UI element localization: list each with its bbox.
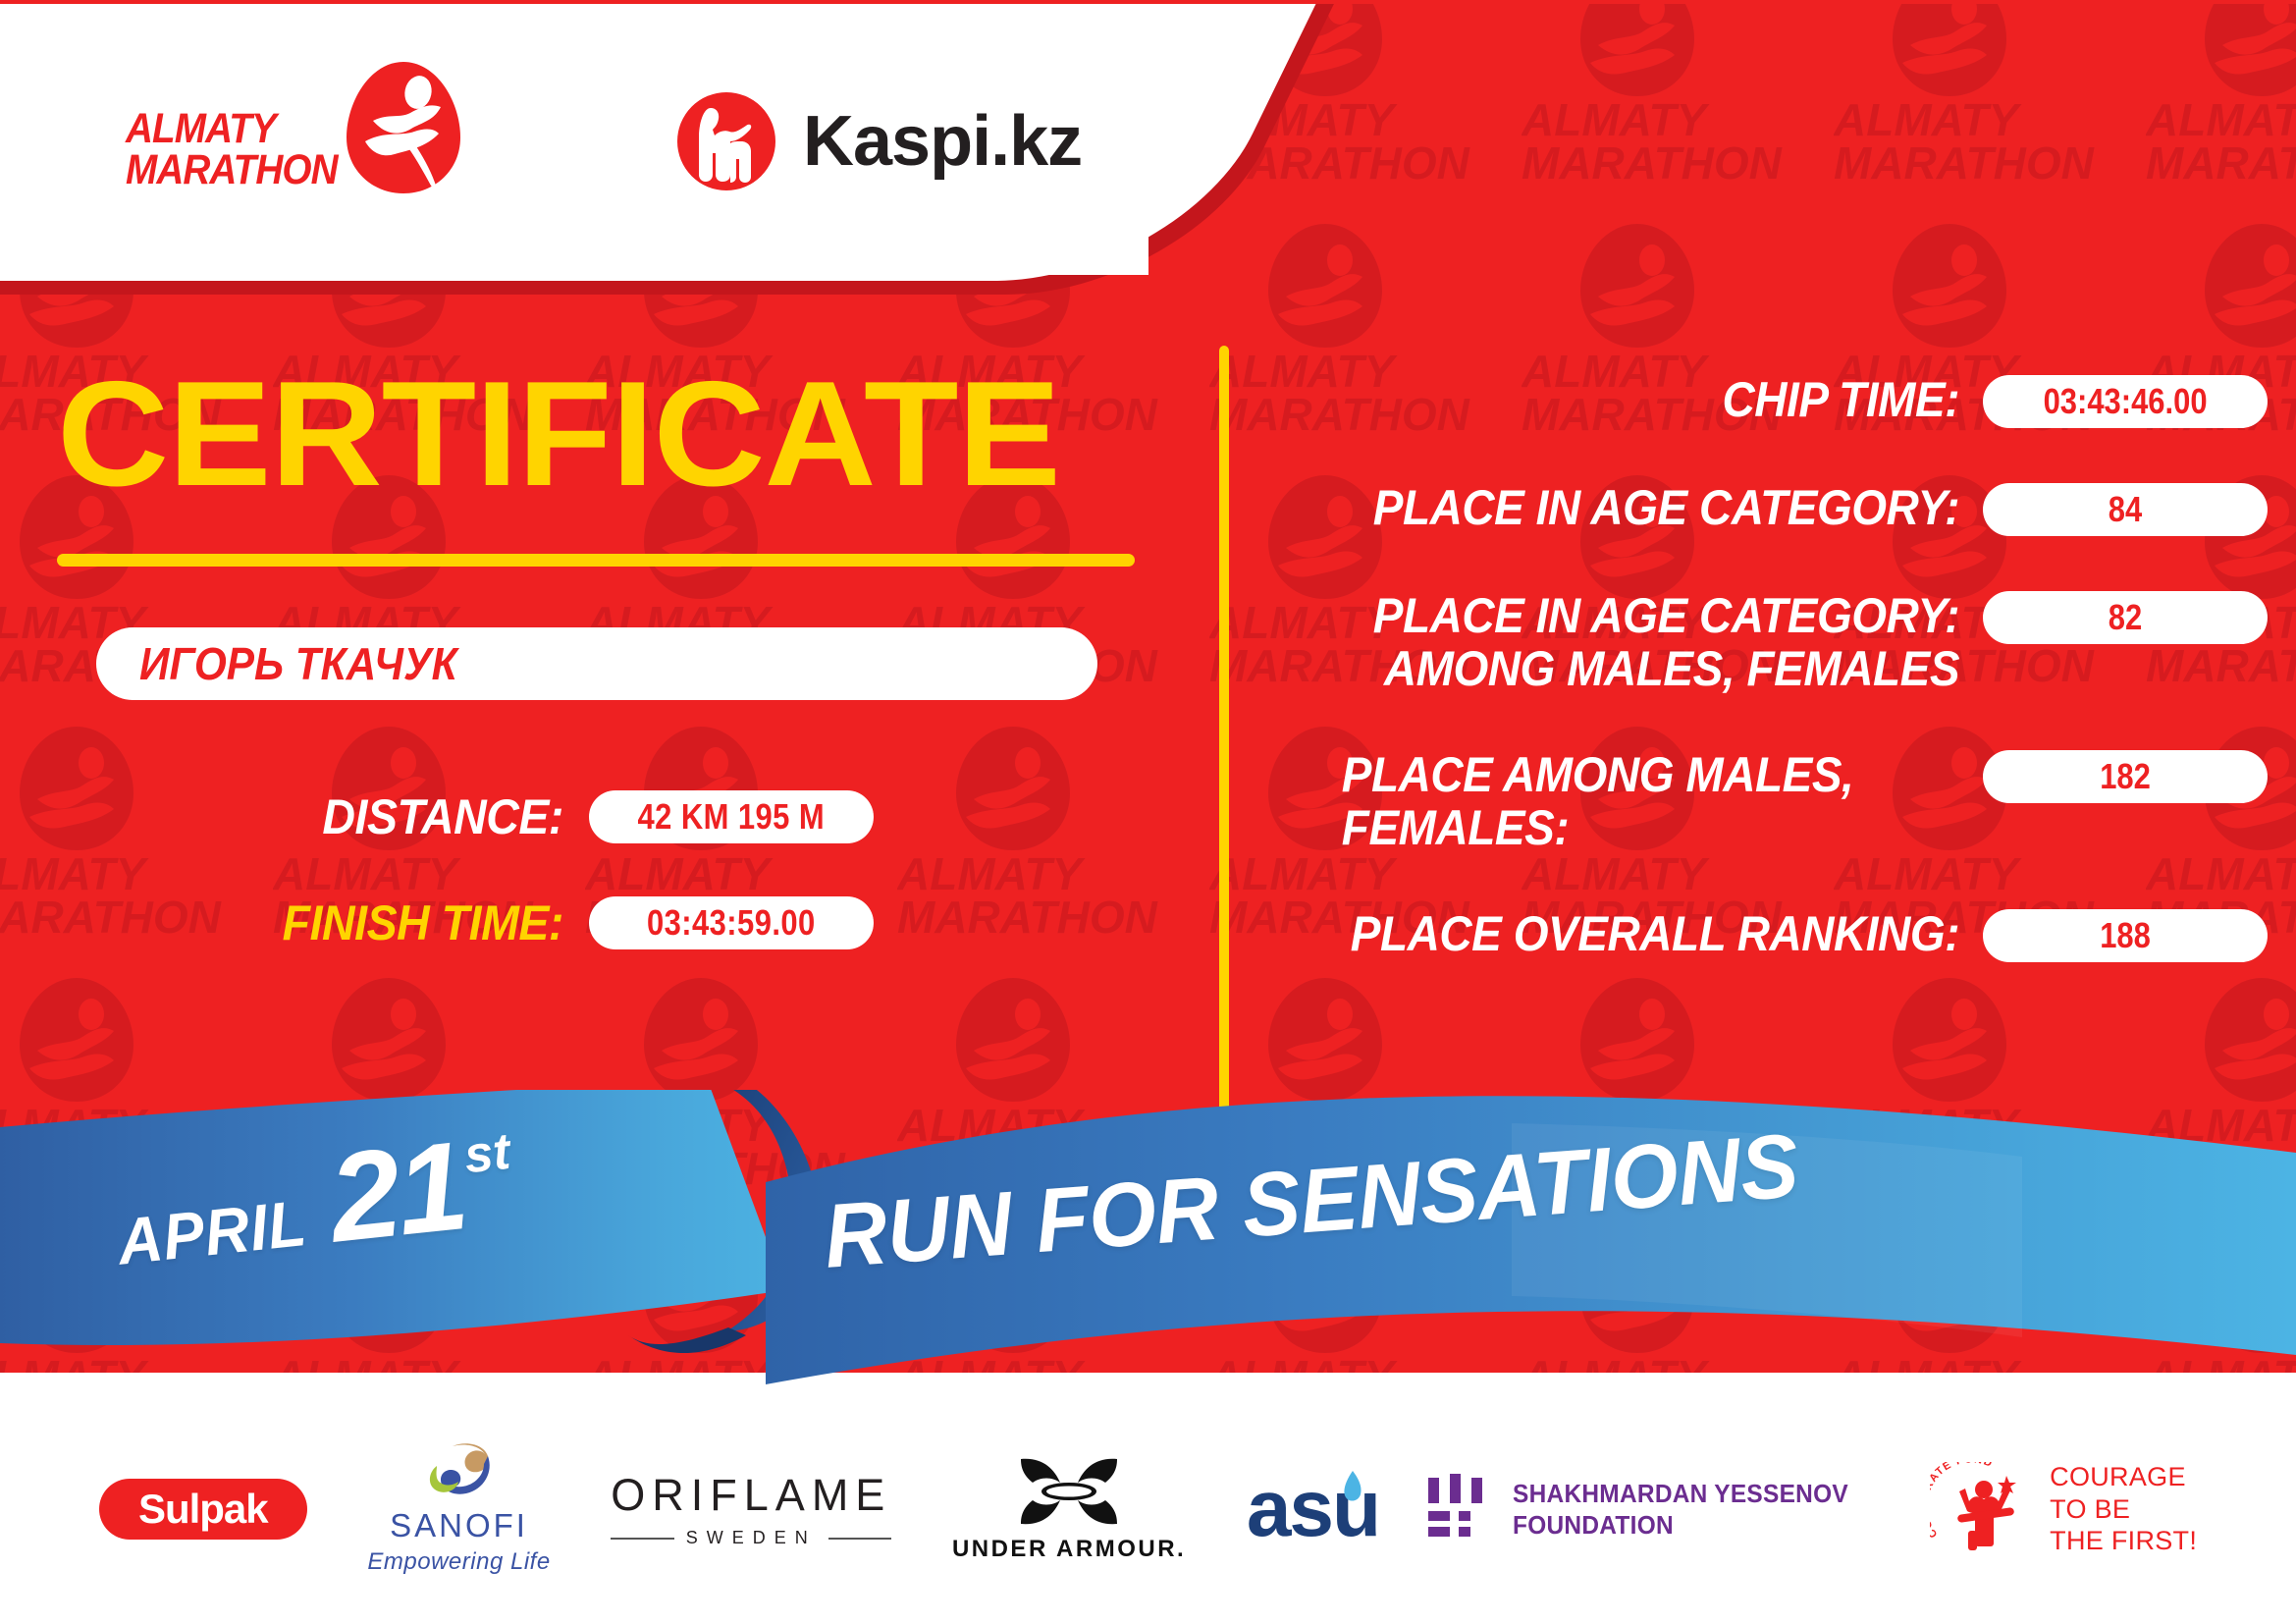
yessenov-wordmark-line2: FOUNDATION bbox=[1513, 1509, 1848, 1542]
title-underline-rule bbox=[57, 554, 1135, 567]
chip-time-row: CHIP TIME: 03:43:46.00 bbox=[1276, 373, 2268, 428]
sponsor-corporate-fund: CORPORATE FUND COURAGE TO BE THE FIRST! bbox=[1930, 1461, 2197, 1558]
place-age-category-among-label-line1: PLACE IN AGE CATEGORY: bbox=[1333, 589, 1959, 642]
sponsor-logo-strip: Sulpak SANOFI Empowering Life ORIFLAME S… bbox=[0, 1394, 2296, 1624]
place-among-males-females-label: PLACE AMONG MALES, FEMALES: bbox=[1333, 748, 1983, 854]
place-age-category-among-row: PLACE IN AGE CATEGORY: AMONG MALES, FEMA… bbox=[1276, 589, 2268, 695]
ribbon-month: APRIL bbox=[114, 1185, 310, 1279]
top-red-rule bbox=[0, 0, 2296, 4]
left-column: CERTIFICATE ИГОРЬ ТКАЧУК DISTANCE: 42 KM… bbox=[0, 363, 1193, 1002]
ribbon-day-suffix: st bbox=[461, 1122, 512, 1186]
finish-time-label: FINISH TIME: bbox=[41, 898, 589, 947]
place-among-males-females-value-pill: 182 bbox=[1983, 750, 2268, 803]
corporate-fund-wordmark: COURAGE TO BE THE FIRST! bbox=[2050, 1461, 2197, 1558]
place-age-category-among-value: 82 bbox=[2109, 597, 2142, 638]
place-age-category-label: PLACE IN AGE CATEGORY: bbox=[1333, 481, 1983, 534]
yessenov-bars-icon bbox=[1426, 1474, 1487, 1544]
ribbon-day-number: 21 bbox=[324, 1123, 470, 1263]
finish-time-value: 03:43:59.00 bbox=[647, 902, 816, 944]
page-title: CERTIFICATE bbox=[57, 363, 1238, 507]
sanofi-tagline: Empowering Life bbox=[367, 1548, 550, 1576]
right-column: CHIP TIME: 03:43:46.00 PLACE IN AGE CATE… bbox=[1276, 373, 2268, 1015]
place-age-category-value: 84 bbox=[2109, 489, 2142, 530]
asu-water-drop-icon bbox=[1336, 1469, 1365, 1512]
distance-label: DISTANCE: bbox=[41, 792, 589, 841]
finish-time-row: FINISH TIME: 03:43:59.00 bbox=[0, 896, 1193, 949]
sanofi-swirl-icon bbox=[423, 1442, 496, 1503]
oriflame-rule-right bbox=[828, 1538, 892, 1540]
sponsor-asu: asu bbox=[1247, 1473, 1365, 1545]
place-overall-ranking-value-pill: 188 bbox=[1983, 909, 2268, 962]
place-age-category-row: PLACE IN AGE CATEGORY: 84 bbox=[1276, 481, 2268, 536]
corporate-fund-line1: COURAGE bbox=[2050, 1461, 2197, 1493]
place-among-males-females-row: PLACE AMONG MALES, FEMALES: 182 bbox=[1276, 748, 2268, 854]
place-overall-ranking-value: 188 bbox=[2100, 915, 2151, 956]
distance-value: 42 KM 195 M bbox=[638, 796, 826, 838]
sanofi-wordmark: SANOFI bbox=[390, 1507, 528, 1544]
place-age-category-among-value-pill: 82 bbox=[1983, 591, 2268, 644]
sponsor-yessenov-foundation: SHAKHMARDAN YESSENOV FOUNDATION bbox=[1426, 1474, 1870, 1544]
yessenov-wordmark: SHAKHMARDAN YESSENOV FOUNDATION bbox=[1513, 1478, 1848, 1542]
chip-time-value-pill: 03:43:46.00 bbox=[1983, 375, 2268, 428]
athlete-name-field: ИГОРЬ ТКАЧУК bbox=[96, 627, 1097, 700]
yellow-vertical-divider bbox=[1219, 346, 1229, 1117]
corporate-fund-line3: THE FIRST! bbox=[2050, 1525, 2197, 1557]
sponsor-sanofi: SANOFI Empowering Life bbox=[367, 1442, 550, 1576]
sponsor-under-armour: UNDER ARMOUR. bbox=[952, 1455, 1186, 1563]
certificate-body: CERTIFICATE ИГОРЬ ТКАЧУК DISTANCE: 42 KM… bbox=[0, 0, 2296, 1624]
oriflame-country: SWEDEN bbox=[686, 1528, 817, 1548]
sponsor-oriflame: ORIFLAME SWEDEN bbox=[611, 1470, 891, 1548]
place-among-males-females-label-line1: PLACE AMONG MALES, bbox=[1342, 748, 1983, 801]
place-among-males-females-label-line2: FEMALES: bbox=[1342, 801, 1983, 854]
oriflame-rule-left bbox=[611, 1538, 674, 1540]
under-armour-icon bbox=[1011, 1455, 1127, 1528]
place-age-category-among-label-line2: AMONG MALES, FEMALES bbox=[1333, 642, 1959, 695]
under-armour-wordmark: UNDER ARMOUR. bbox=[952, 1536, 1186, 1563]
certificate-canvas: ALMATY MARATHON ALMATY MARATHON bbox=[0, 0, 2296, 1624]
oriflame-sub-row: SWEDEN bbox=[611, 1528, 891, 1548]
athlete-name-value: ИГОРЬ ТКАЧУК bbox=[139, 637, 457, 690]
chip-time-label: CHIP TIME: bbox=[1333, 373, 1983, 426]
corporate-fund-runner-icon: CORPORATE FUND bbox=[1930, 1462, 2036, 1556]
place-overall-ranking-label: PLACE OVERALL RANKING: bbox=[1333, 907, 1983, 960]
distance-row: DISTANCE: 42 KM 195 M bbox=[0, 790, 1193, 843]
finish-time-value-pill: 03:43:59.00 bbox=[589, 896, 874, 949]
distance-value-pill: 42 KM 195 M bbox=[589, 790, 874, 843]
corporate-fund-line2: TO BE bbox=[2050, 1493, 2197, 1526]
yessenov-wordmark-line1: SHAKHMARDAN YESSENOV bbox=[1513, 1478, 1848, 1510]
place-age-category-value-pill: 84 bbox=[1983, 483, 2268, 536]
sponsor-sulpak: Sulpak bbox=[99, 1479, 307, 1540]
chip-time-value: 03:43:46.00 bbox=[2044, 381, 2208, 422]
place-age-category-among-label: PLACE IN AGE CATEGORY: AMONG MALES, FEMA… bbox=[1333, 589, 1983, 695]
left-field-rows: DISTANCE: 42 KM 195 M FINISH TIME: 03:43… bbox=[0, 790, 1193, 949]
place-overall-ranking-row: PLACE OVERALL RANKING: 188 bbox=[1276, 907, 2268, 962]
sulpak-logo: Sulpak bbox=[99, 1479, 307, 1540]
place-among-males-females-value: 182 bbox=[2100, 756, 2151, 797]
oriflame-wordmark: ORIFLAME bbox=[611, 1470, 891, 1521]
